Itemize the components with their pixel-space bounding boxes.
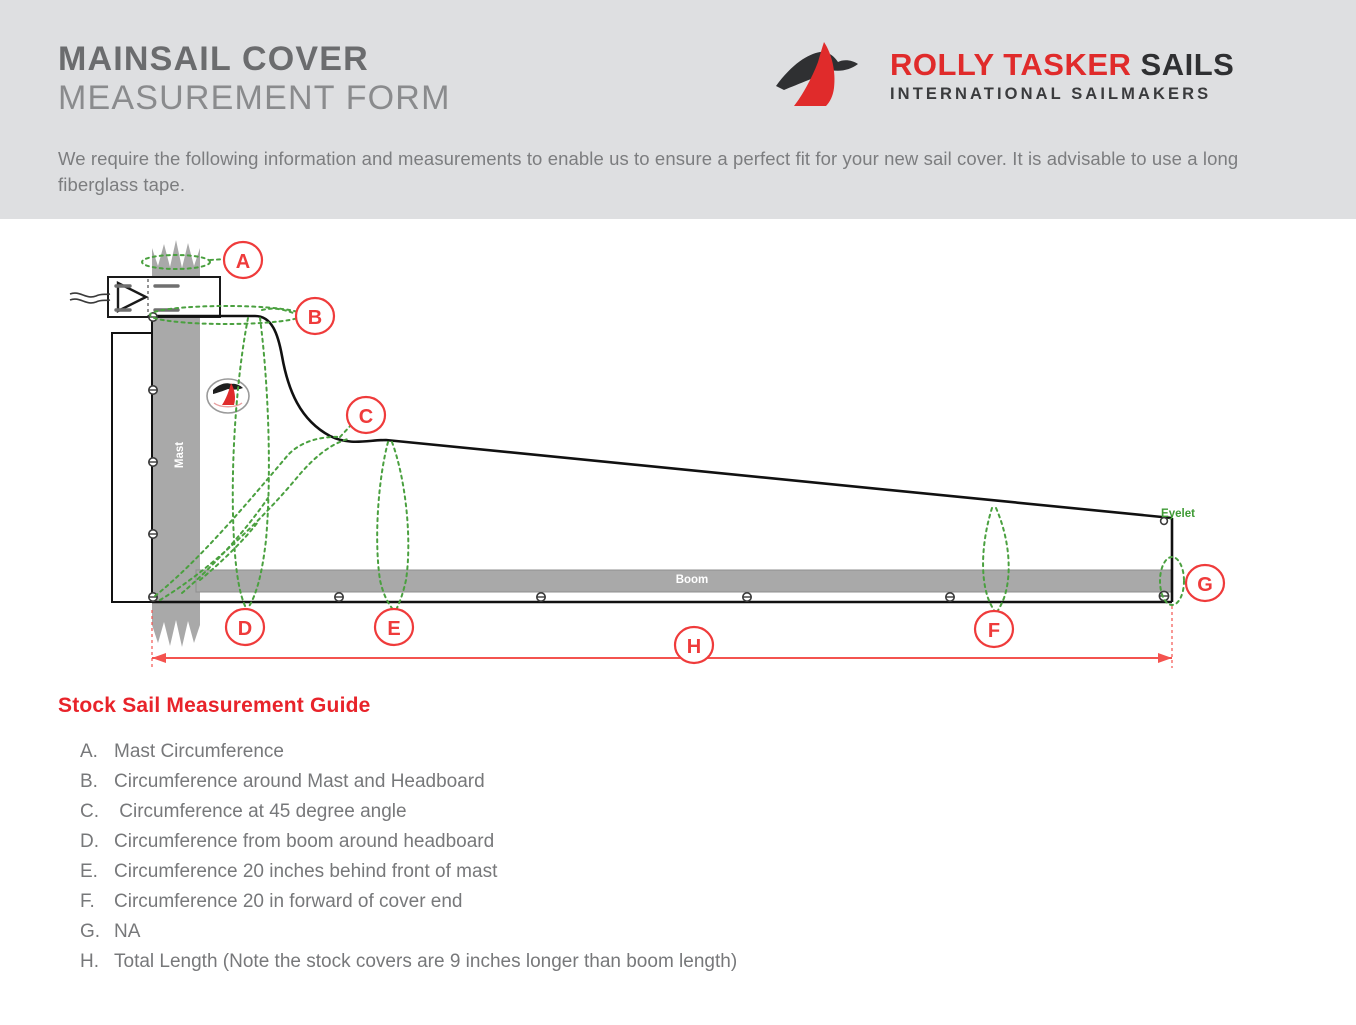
measurement-markers: A B C D E F G [224, 242, 1224, 663]
guide-item-key: H. [80, 952, 114, 971]
marker-h-label: H [687, 636, 701, 658]
guide-item-key: D. [80, 832, 114, 851]
guide-list: A.Mast CircumferenceB.Circumference arou… [58, 742, 1108, 971]
halyard-line [70, 293, 110, 297]
guide-line-f2 [996, 508, 1009, 614]
logo-wordmark: ROLLY TASKER SAILS INTERNATIONAL SAILMAK… [890, 49, 1280, 103]
marker-e-label: E [387, 618, 400, 640]
cover-top-edge [152, 316, 1172, 518]
logo-brand-red: ROLLY TASKER [890, 47, 1131, 82]
measurement-form-page: MAINSAIL COVER MEASUREMENT FORM We requi… [0, 0, 1356, 1025]
guide-item-key: F. [80, 892, 114, 911]
marker-g: G [1186, 565, 1224, 601]
marker-f: F [975, 611, 1013, 647]
boom-label: Boom [676, 574, 709, 586]
company-logo: ROLLY TASKER SAILS INTERNATIONAL SAILMAK… [768, 38, 1280, 116]
marker-e: E [375, 609, 413, 645]
marker-h: H [675, 627, 713, 663]
cover-logo-badge [207, 379, 249, 413]
marker-d: D [226, 609, 264, 645]
guide-title: Stock Sail Measurement Guide [58, 694, 1108, 718]
halyard-line-2 [70, 299, 110, 303]
marker-f-label: F [988, 620, 1000, 642]
guide-item-label: Circumference at 45 degree angle [114, 802, 407, 821]
guide-item: C. Circumference at 45 degree angle [58, 802, 1108, 821]
title-line-secondary: MEASUREMENT FORM [58, 81, 451, 115]
page-title: MAINSAIL COVER MEASUREMENT FORM [58, 42, 451, 115]
guide-item-label: Mast Circumference [114, 742, 284, 761]
eyelet-label: Eyelet [1161, 508, 1195, 520]
marker-d-label: D [238, 618, 252, 640]
guide-line-f1 [983, 508, 996, 614]
intro-paragraph: We require the following information and… [58, 146, 1268, 199]
logo-brand-line: ROLLY TASKER SAILS [890, 49, 1280, 80]
guide-item-key: E. [80, 862, 114, 881]
guide-line-d1 [233, 318, 248, 608]
rolly-tasker-sail-logo-icon [768, 38, 878, 116]
cover-front-panel [112, 333, 152, 602]
guide-item: F.Circumference 20 in forward of cover e… [58, 892, 1108, 911]
guide-item-label: Total Length (Note the stock covers are … [114, 952, 737, 971]
guide-item-key: G. [80, 922, 114, 941]
logo-brand-dark: SAILS [1141, 47, 1235, 82]
guide-item: H.Total Length (Note the stock covers ar… [58, 952, 1108, 971]
guide-item-key: B. [80, 772, 114, 791]
dimension-h [152, 606, 1172, 668]
dimension-arrow-left [152, 653, 166, 663]
marker-c-label: C [359, 406, 373, 428]
headboard-group [70, 277, 220, 317]
guide-item: D.Circumference from boom around headboa… [58, 832, 1108, 851]
mast-label: Mast [174, 442, 186, 468]
logo-tagline: INTERNATIONAL SAILMAKERS [890, 86, 1280, 103]
guide-item-label: Circumference around Mast and Headboard [114, 772, 485, 791]
guide-item-label: Circumference 20 in forward of cover end [114, 892, 463, 911]
boom-group: Boom [196, 570, 1172, 592]
guide-item-label: Circumference from boom around headboard [114, 832, 494, 851]
marker-a-label: A [236, 251, 250, 273]
guide-item-key: C. [80, 802, 114, 821]
guide-item-label: NA [114, 922, 140, 941]
marker-b: B [296, 298, 334, 334]
sail-cover-outline [112, 316, 1172, 602]
title-line-primary: MAINSAIL COVER [58, 42, 451, 76]
guide-item: B.Circumference around Mast and Headboar… [58, 772, 1108, 791]
marker-c: C [347, 397, 385, 433]
marker-b-label: B [308, 307, 322, 329]
sail-cover-measurement-diagram: Mast Boom [0, 219, 1356, 689]
guide-item: G.NA [58, 922, 1108, 941]
marker-g-label: G [1197, 574, 1213, 596]
guide-item: E.Circumference 20 inches behind front o… [58, 862, 1108, 881]
marker-a: A [224, 242, 262, 278]
stock-sail-measurement-guide: Stock Sail Measurement Guide A.Mast Circ… [58, 694, 1108, 982]
guide-item: A.Mast Circumference [58, 742, 1108, 761]
eyelet-group: Eyelet [149, 313, 1195, 601]
guide-item-label: Circumference 20 inches behind front of … [114, 862, 497, 881]
guide-line-d2 [248, 318, 269, 608]
dimension-arrow-right [1158, 653, 1172, 663]
guide-item-key: A. [80, 742, 114, 761]
